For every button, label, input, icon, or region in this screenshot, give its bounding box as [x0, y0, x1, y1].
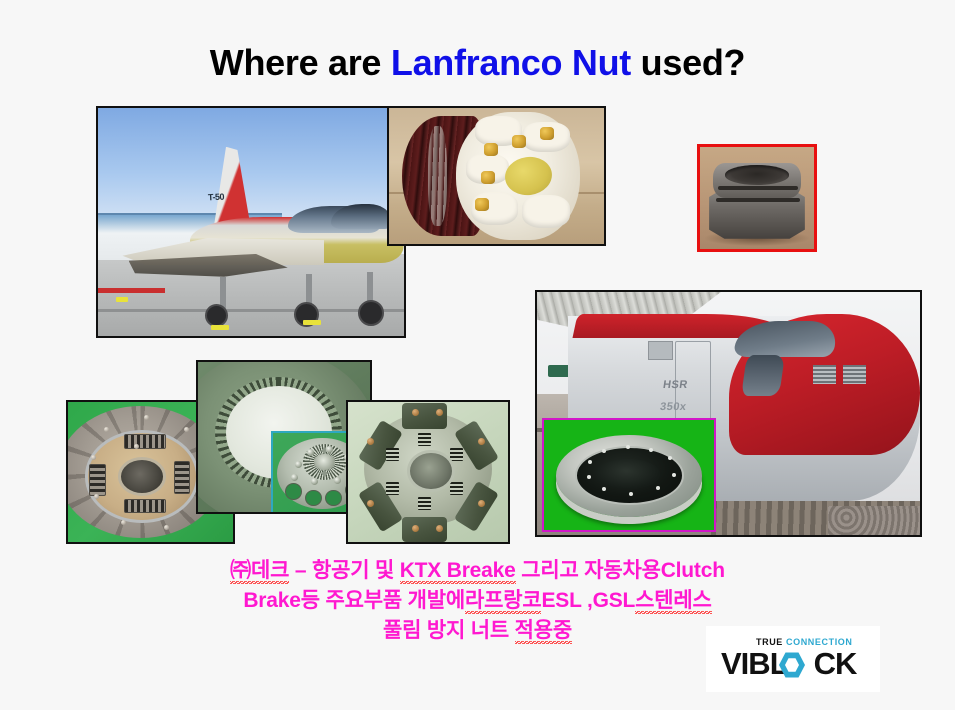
logo-word-part3: CK [814, 646, 857, 681]
disc-bolt-3 [626, 445, 630, 449]
puck-marcel-clip-3 [450, 448, 463, 461]
brake-disc-hub [595, 459, 660, 490]
caption-l2-seg3: 라프랑코 [465, 589, 541, 614]
caption-l3-seg2: 적용중 [515, 619, 572, 644]
clutch-rivet-5 [121, 520, 126, 525]
caption-l3-seg1: 풀림 방지 너트 [383, 619, 515, 642]
caption-l2-seg1: Brake [243, 589, 300, 612]
ceramic-puck-clutch-photo [346, 400, 510, 544]
jet-wheel-right [358, 300, 384, 326]
puck-marcel-clip-4 [386, 482, 399, 495]
puck-marcel-clip-6 [418, 497, 431, 510]
acbrake-bolt-2 [512, 135, 526, 148]
pplate-window-2 [305, 490, 322, 507]
train-marking-hsr: HSR [663, 379, 689, 391]
train-access-panel [648, 341, 673, 360]
disc-bolt-6 [672, 473, 676, 477]
clutch-spring-bottom [124, 499, 166, 514]
train-vent-2 [843, 365, 866, 384]
disc-bolt-4 [649, 448, 653, 452]
clutch-rivet-7 [184, 427, 189, 432]
puck-marcel-clip-1 [418, 433, 431, 446]
caption-l2-seg2: 등 주요부품 개발에 [301, 589, 465, 612]
jet-red-marker [98, 288, 165, 293]
caption-l2-seg5: 스텐레스 [635, 589, 711, 614]
clutch-rivet-1 [144, 415, 149, 420]
jet-tail-marking: T-50 [208, 192, 225, 203]
caption-l2-seg4: ESL ,GSL [541, 589, 635, 612]
page-title: Where are Lanfranco Nut used? [0, 42, 955, 84]
disc-bolt-9 [602, 487, 606, 491]
clutch-spring-top [124, 434, 166, 449]
train-marking-model: 350x [659, 401, 687, 413]
puck-rivet-2 [436, 409, 443, 416]
lanfranco-nut-artwork [700, 147, 814, 249]
puck-marcel-clip-2 [386, 448, 399, 461]
disc-bolt-10 [587, 475, 591, 479]
acbrake-lobe-5 [522, 195, 569, 228]
track-ballast [828, 506, 920, 535]
acbrake-bolt-3 [481, 171, 495, 184]
hexagon-lock-icon [779, 652, 805, 678]
aircraft-brake-artwork [389, 108, 604, 244]
pplate-bolt-2 [307, 449, 314, 456]
nut-slot-upper [718, 186, 798, 190]
aircraft-brake-photo [387, 106, 606, 246]
title-text-after: used? [631, 42, 745, 83]
puck-rivet-1 [412, 409, 419, 416]
jet-chock-far [116, 297, 128, 302]
puck-marcel-clip-5 [450, 482, 463, 495]
clutch-splined-hub [118, 457, 167, 497]
logo-word-part1: VIB [721, 646, 770, 681]
title-text-before: Where are [210, 42, 391, 83]
caption-l1-seg4: 그리고 자동차용 [516, 559, 661, 582]
pplate-bolt-1 [295, 461, 302, 468]
train-side-window [741, 355, 785, 396]
nut-thread-bore [725, 165, 789, 184]
caption-l1-seg1: ㈜데크 [230, 559, 289, 584]
train-vent-1 [813, 365, 836, 384]
train-brake-disc-inset [542, 418, 716, 532]
ceramic-puck-artwork [348, 402, 508, 542]
fighter-jet-artwork: T-50 [98, 108, 404, 336]
caption-l1-seg2: – 항공기 및 [289, 559, 400, 582]
disc-bolt-1 [588, 460, 592, 464]
jet-chock-right [303, 320, 321, 325]
puck-pad-top [402, 403, 447, 428]
clutch-rivet-8 [134, 444, 139, 449]
puck-rivet-6 [478, 500, 485, 507]
clutch-rivet-6 [164, 525, 169, 530]
jet-chock-left [211, 325, 229, 330]
pplate-window-1 [285, 483, 302, 500]
caption-line-2: Brake등 주요부품 개발에라프랑코ESL ,GSL스텐레스 [0, 586, 955, 616]
caption-l1-seg5: Clutch [661, 559, 725, 582]
fighter-jet-photo: T-50 [96, 106, 406, 338]
pplate-bolt-7 [311, 478, 318, 485]
train-brake-disc-artwork [544, 420, 714, 530]
caption-line-1: ㈜데크 – 항공기 및 KTX Breake 그리고 자동차용Clutch [0, 556, 955, 586]
lanfranco-nut-photo [697, 144, 817, 252]
ktx-train-photo: HSR 350x [535, 290, 922, 537]
viblock-logo: TRUE CONNECTION VIBLCK [706, 626, 880, 692]
acbrake-bolt-4 [475, 198, 489, 211]
disc-bolt-2 [602, 449, 606, 453]
nut-slot-lower [716, 198, 800, 202]
title-text-highlight: Lanfranco Nut [391, 42, 631, 83]
acbrake-bolt-5 [540, 127, 554, 140]
clutch-spring-right [174, 461, 191, 494]
puck-splined-hub [407, 450, 455, 492]
slide-canvas: Where are Lanfranco Nut used? T-50 [0, 0, 955, 710]
caption-l1-seg3: KTX Breake [400, 559, 516, 584]
clutch-spring-left [89, 464, 106, 497]
disc-bolt-8 [629, 492, 633, 496]
acbrake-bolt-1 [484, 143, 498, 156]
pplate-bolt-8 [291, 474, 298, 481]
puck-rivet-4 [478, 438, 485, 445]
